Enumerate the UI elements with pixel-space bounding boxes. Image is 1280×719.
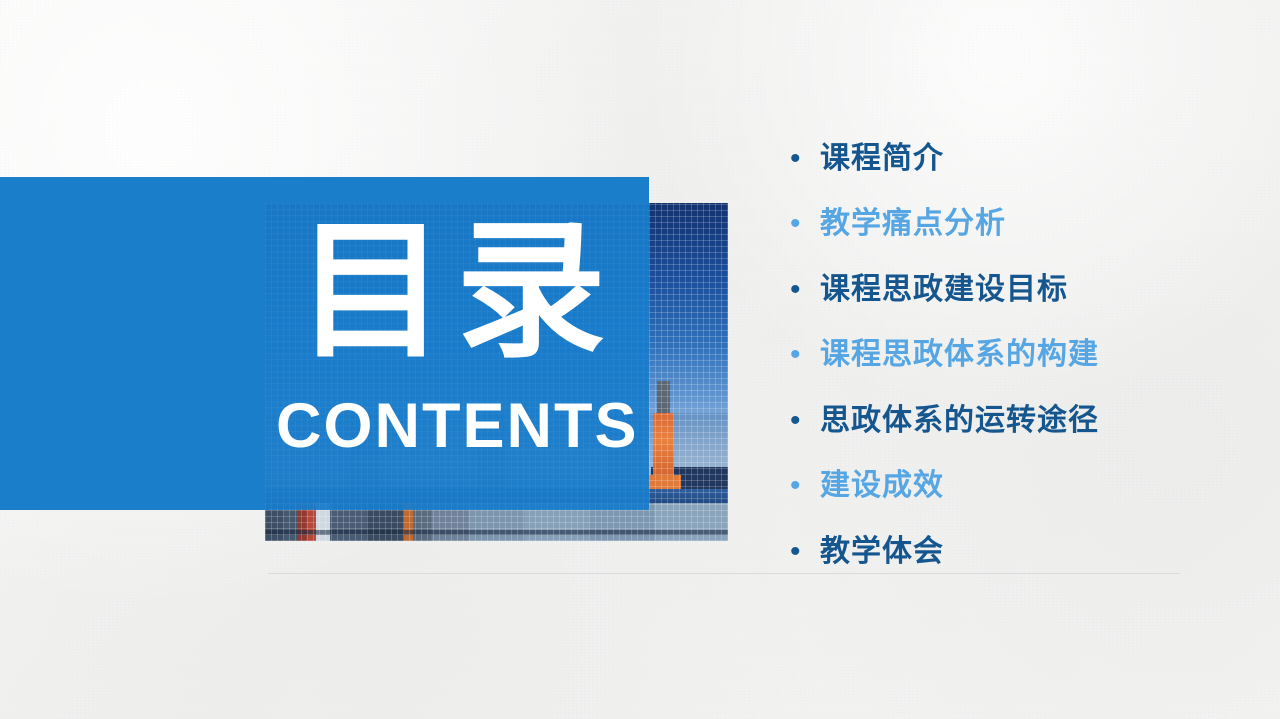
agenda-item-4[interactable]: • 课程思政体系的构建 (786, 323, 1206, 389)
agenda-item-6[interactable]: • 建设成效 (786, 454, 1206, 520)
agenda-item-label: 教学体会 (820, 535, 944, 569)
agenda-item-label: 建设成效 (820, 469, 944, 503)
bullet-icon: • (786, 340, 820, 370)
slide-canvas: 目录 CONTENTS • 课程简介 • 教学痛点分析 • 课程思政建设目标 •… (0, 0, 1280, 719)
bullet-icon: • (786, 144, 820, 174)
bullet-icon: • (786, 406, 820, 436)
bullet-icon: • (786, 471, 820, 501)
bottom-divider-rule (268, 573, 1180, 574)
bullet-icon: • (786, 537, 820, 567)
agenda-item-label: 课程简介 (820, 142, 944, 176)
agenda-item-5[interactable]: • 思政体系的运转途径 (786, 388, 1206, 454)
agenda-item-2[interactable]: • 教学痛点分析 (786, 192, 1206, 258)
bullet-icon: • (786, 209, 820, 239)
agenda-item-label: 课程思政体系的构建 (820, 338, 1099, 372)
page-title-chinese: 目录 (296, 216, 616, 366)
agenda-item-3[interactable]: • 课程思政建设目标 (786, 257, 1206, 323)
agenda-item-label: 教学痛点分析 (820, 207, 1006, 241)
agenda-item-label: 思政体系的运转途径 (820, 404, 1099, 438)
agenda-item-label: 课程思政建设目标 (820, 273, 1068, 307)
agenda-item-1[interactable]: • 课程简介 (786, 126, 1206, 192)
crane-top-icon (657, 381, 670, 413)
page-title-english: CONTENTS (276, 395, 639, 458)
agenda-item-7[interactable]: • 教学体会 (786, 519, 1206, 585)
agenda-list: • 课程简介 • 教学痛点分析 • 课程思政建设目标 • 课程思政体系的构建 •… (786, 126, 1206, 585)
bullet-icon: • (786, 275, 820, 305)
